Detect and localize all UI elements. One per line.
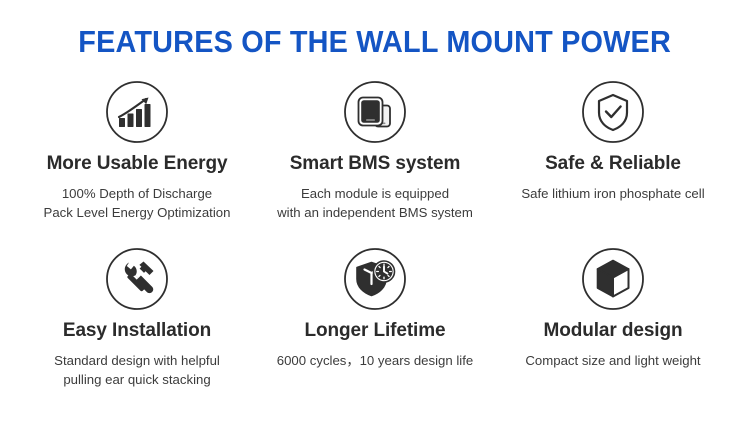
feature-description: Compact size and light weight (525, 352, 700, 371)
feature-description: Each module is equipped with an independ… (277, 185, 473, 222)
page-title-container: FEATURES OF THE WALL MOUNT POWER (0, 0, 750, 59)
feature-card-modular-design: Modular design Compact size and light we… (494, 246, 732, 413)
shield-check-icon (580, 79, 646, 145)
feature-title: More Usable Energy (47, 153, 228, 176)
feature-card-safe-reliable: Safe & Reliable Safe lithium iron phosph… (494, 79, 732, 246)
feature-card-longer-lifetime: Longer Lifetime 6000 cycles，10 years des… (256, 246, 494, 413)
page-title: FEATURES OF THE WALL MOUNT POWER (79, 25, 672, 59)
feature-title: Longer Lifetime (304, 320, 445, 343)
feature-card-smart-bms-system: Smart BMS system Each module is equipped… (256, 79, 494, 246)
feature-description: 6000 cycles，10 years design life (277, 352, 473, 371)
growth-bar-chart-icon (104, 79, 170, 145)
feature-card-more-usable-energy: More Usable Energy 100% Depth of Dischar… (18, 79, 256, 246)
features-grid: More Usable Energy 100% Depth of Dischar… (0, 79, 750, 413)
battery-modules-icon (342, 79, 408, 145)
wrench-hammer-icon (104, 246, 170, 312)
feature-title: Smart BMS system (290, 153, 461, 176)
feature-description: 100% Depth of Discharge Pack Level Energ… (44, 185, 231, 222)
feature-description: Standard design with helpful pulling ear… (54, 352, 220, 389)
feature-highlights-page: FEATURES OF THE WALL MOUNT POWER More (0, 0, 750, 427)
cube-box-icon (580, 246, 646, 312)
feature-title: Modular design (544, 320, 683, 343)
feature-title: Safe & Reliable (545, 153, 681, 176)
shield-clock-icon (342, 246, 408, 312)
feature-card-easy-installation: Easy Installation Standard design with h… (18, 246, 256, 413)
feature-title: Easy Installation (63, 320, 211, 343)
feature-description: Safe lithium iron phosphate cell (521, 185, 704, 204)
